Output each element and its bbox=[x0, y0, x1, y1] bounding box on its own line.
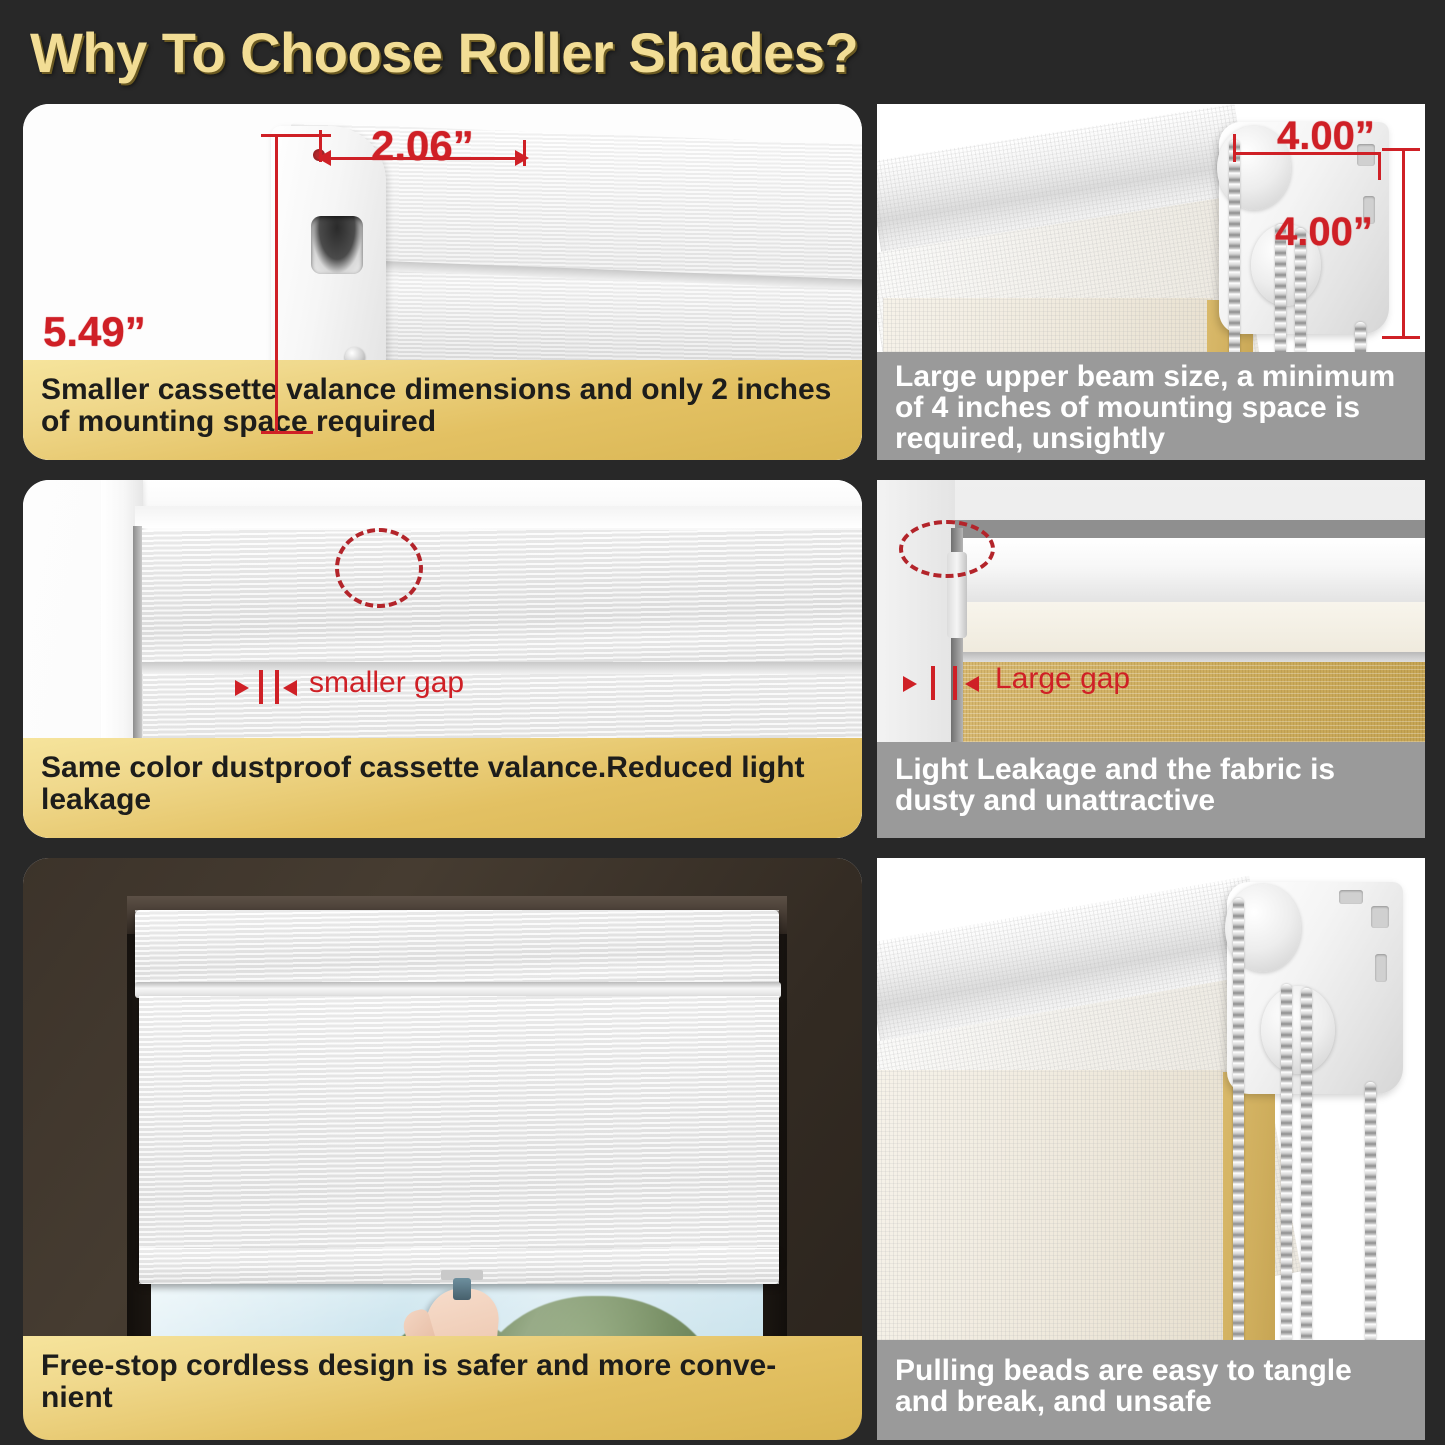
panel-image-pulling-beads: Pulling beads are easy to tangle and bre… bbox=[877, 858, 1425, 1440]
panel-image-large-upper-beam: 4.00” 4.00” Large upper beam size, a min… bbox=[877, 104, 1425, 460]
bracket-notch-icon bbox=[1375, 954, 1387, 982]
panel-caption-cassette-valance: Smaller cassette valance dimensions and … bbox=[23, 360, 862, 460]
gap-marker-right bbox=[275, 670, 279, 704]
gap-marker-left bbox=[259, 670, 263, 704]
roller-end-cap-lower-icon bbox=[1261, 986, 1335, 1074]
valance-lip bbox=[139, 662, 862, 674]
highlight-circle-icon bbox=[899, 520, 995, 578]
panel-dustproof-cassette-valance: smaller gap Same color dustproof cassett… bbox=[23, 480, 862, 838]
dimension-label-width: 2.06” bbox=[371, 122, 474, 170]
panel-caption-light-leakage: Light Leakage and the fabric is dusty an… bbox=[877, 742, 1425, 838]
panel-free-stop-cordless: Free-stop cordless design is safer and m… bbox=[23, 858, 862, 1440]
gap-marker-right bbox=[953, 666, 957, 700]
title-bar: Why To Choose Roller Shades? bbox=[0, 0, 1445, 104]
bead-chain bbox=[1365, 1082, 1376, 1378]
comparison-row-1: 2.06” 5.49” Smaller cassette valance dim… bbox=[23, 104, 1425, 460]
roller-fabric-tan bbox=[1223, 1072, 1275, 1380]
dimension-label-height: 5.49” bbox=[43, 308, 146, 356]
dimension-tick-top bbox=[261, 134, 331, 137]
roller-fabric-cream bbox=[877, 1070, 1227, 1380]
fabric-texture bbox=[139, 996, 779, 1256]
bottom-rail-grip bbox=[453, 1278, 471, 1300]
bead-chain bbox=[1301, 988, 1312, 1378]
comparison-grid: 2.06” 5.49” Smaller cassette valance dim… bbox=[0, 104, 1445, 1440]
panel-image-light-leakage: Large gap Light Leakage and the fabric i… bbox=[877, 480, 1425, 838]
dimension-tick-right bbox=[1378, 152, 1381, 180]
dimension-tick-bottom bbox=[261, 431, 313, 434]
panel-image-free-stop-cordless: Free-stop cordless design is safer and m… bbox=[23, 858, 862, 1440]
valance-slot-graphic bbox=[311, 216, 363, 274]
gap-arrow-right bbox=[903, 676, 917, 692]
upper-beam-graphic bbox=[961, 538, 1425, 610]
bead-chain bbox=[1281, 984, 1292, 1378]
dimension-tick-top bbox=[1382, 148, 1420, 151]
cassette-valance-graphic bbox=[135, 910, 779, 988]
dimension-label-width: 4.00” bbox=[1277, 114, 1375, 159]
panel-pulling-beads: Pulling beads are easy to tangle and bre… bbox=[877, 858, 1425, 1440]
gap-arrow-right bbox=[235, 680, 249, 696]
panel-cassette-valance-dimensions: 2.06” 5.49” Smaller cassette valance dim… bbox=[23, 104, 862, 460]
page-title: Why To Choose Roller Shades? bbox=[30, 20, 858, 85]
gap-marker-left bbox=[931, 666, 935, 700]
panel-image-dustproof-valance: smaller gap Same color dustproof cassett… bbox=[23, 480, 862, 838]
bead-chain bbox=[1233, 898, 1244, 1378]
valance-lower-face bbox=[961, 602, 1425, 654]
panel-caption-free-stop-cordless: Free-stop cordless design is safer and m… bbox=[23, 1336, 862, 1440]
highlight-circle-icon bbox=[335, 528, 423, 608]
comparison-row-3: Free-stop cordless design is safer and m… bbox=[23, 858, 1425, 1440]
panel-caption-pulling-beads: Pulling beads are easy to tangle and bre… bbox=[877, 1340, 1425, 1440]
dimension-line-vertical bbox=[1402, 148, 1405, 338]
gap-arrow-left bbox=[283, 680, 297, 696]
panel-light-leakage: Large gap Light Leakage and the fabric i… bbox=[877, 480, 1425, 838]
valance-texture bbox=[139, 530, 862, 670]
gap-arrow-left bbox=[965, 676, 979, 692]
dimension-label-height: 4.00” bbox=[1275, 210, 1373, 255]
window-frame-inner bbox=[135, 506, 862, 528]
roller-shade-fabric bbox=[139, 996, 779, 1256]
dimension-tick-bottom bbox=[1382, 336, 1420, 339]
panel-image-cassette-valance: 2.06” 5.49” Smaller cassette valance dim… bbox=[23, 104, 862, 460]
cassette-valance-graphic bbox=[139, 530, 862, 670]
panel-caption-large-upper-beam: Large upper beam size, a minimum of 4 in… bbox=[877, 352, 1425, 460]
dimension-line-vertical bbox=[275, 134, 278, 434]
bracket-notch-icon bbox=[1339, 890, 1363, 904]
bracket-notch-icon bbox=[1371, 906, 1389, 928]
gap-label-large: Large gap bbox=[995, 662, 1130, 696]
panel-large-upper-beam: 4.00” 4.00” Large upper beam size, a min… bbox=[877, 104, 1425, 460]
panel-caption-dustproof-valance: Same color dustproof cassette valance.Re… bbox=[23, 738, 862, 838]
dimension-arrow-right bbox=[515, 150, 529, 166]
gap-label-smaller: smaller gap bbox=[309, 666, 464, 700]
valance-texture bbox=[135, 910, 779, 988]
valance-rail bbox=[961, 652, 1425, 662]
fabric-weave-texture bbox=[877, 1070, 1227, 1380]
dimension-tick-right bbox=[523, 140, 526, 166]
dimension-tick-left bbox=[1233, 134, 1236, 162]
comparison-row-2: smaller gap Same color dustproof cassett… bbox=[23, 480, 1425, 838]
